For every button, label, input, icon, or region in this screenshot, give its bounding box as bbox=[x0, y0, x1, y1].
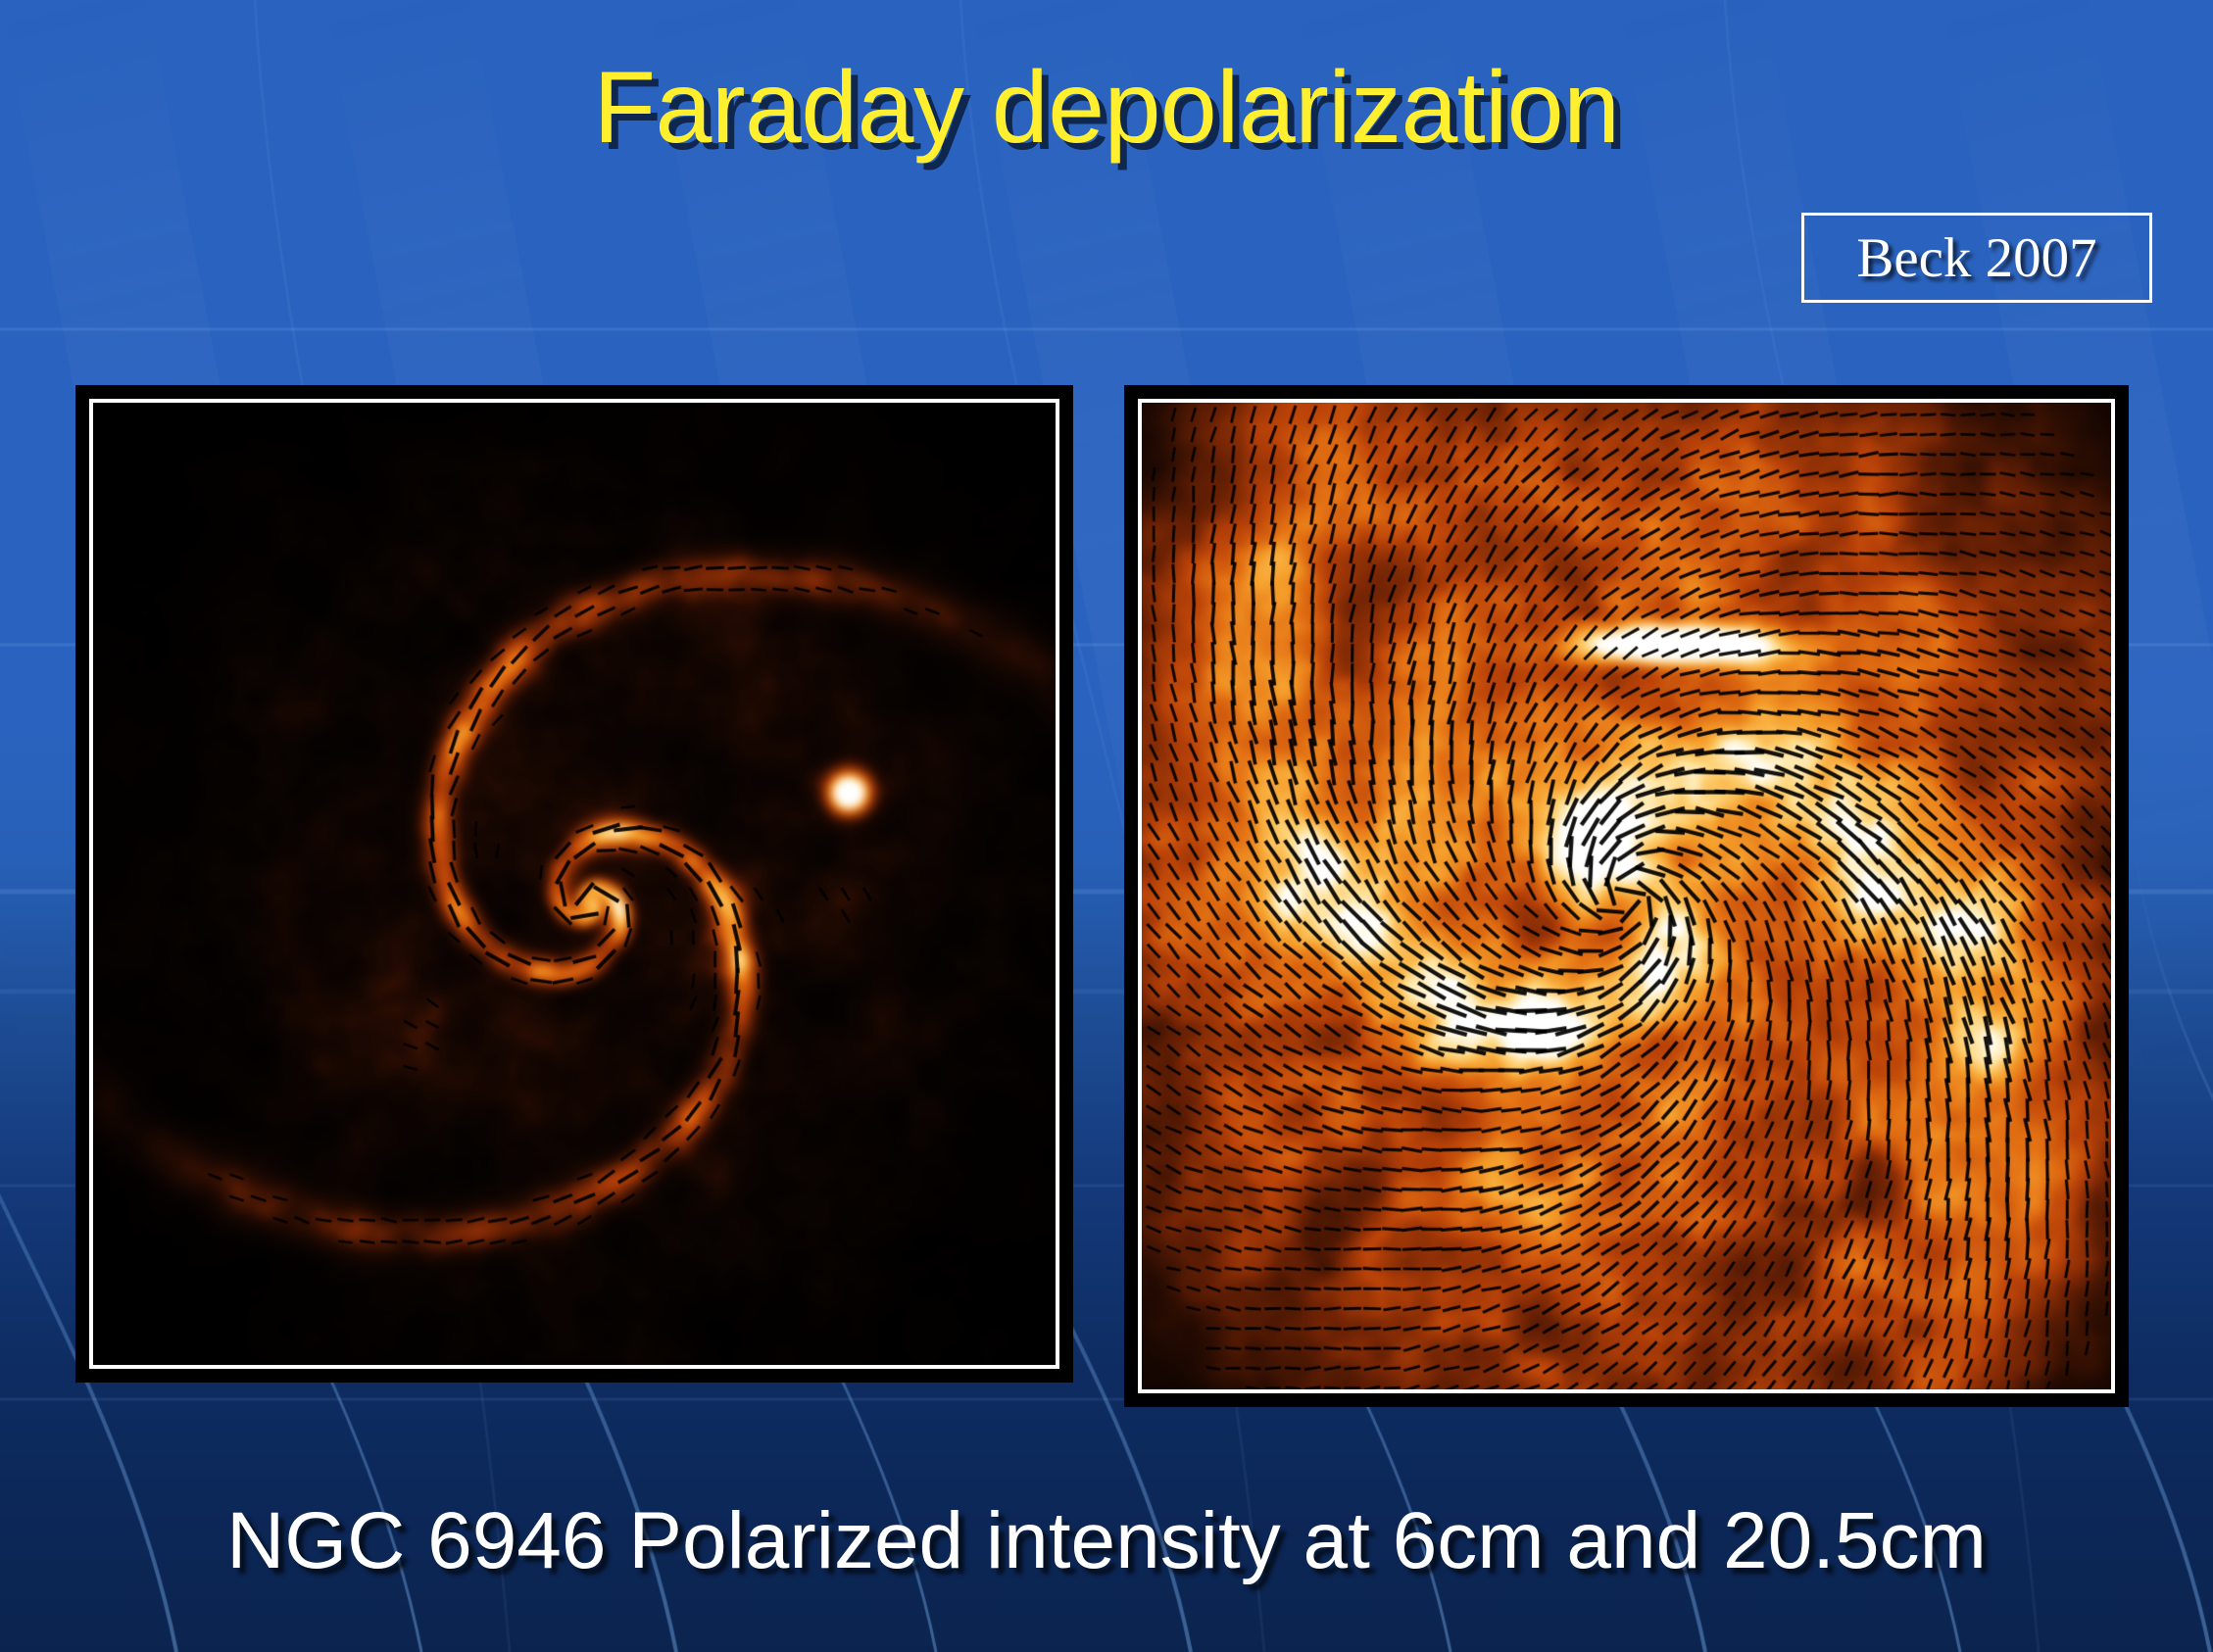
polarized-intensity-map-20p5cm bbox=[1142, 403, 2111, 1389]
page-title: Faraday depolarization bbox=[0, 51, 2213, 165]
slide-canvas: Faraday depolarization Beck 2007 NGC 694… bbox=[0, 0, 2213, 1652]
panel-6cm bbox=[75, 385, 1073, 1383]
panel-20p5cm bbox=[1124, 385, 2129, 1407]
citation-box: Beck 2007 bbox=[1801, 213, 2152, 303]
citation-label: Beck 2007 bbox=[1856, 226, 2096, 290]
polarized-intensity-map-6cm bbox=[93, 403, 1056, 1365]
slide-caption: NGC 6946 Polarized intensity at 6cm and … bbox=[0, 1495, 2213, 1587]
panel-6cm-frame bbox=[89, 399, 1059, 1369]
panel-20p5cm-frame bbox=[1138, 399, 2115, 1393]
